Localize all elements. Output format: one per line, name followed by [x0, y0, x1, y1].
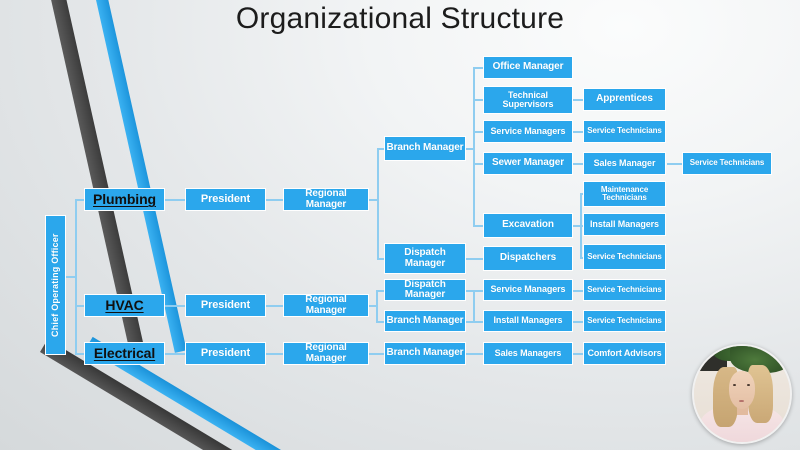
node-sewer-manager[interactable]: Sewer Manager: [483, 152, 573, 175]
node-chief-operating-officer[interactable]: Chief Operating Officer: [45, 215, 66, 355]
node-sales-managers-electrical[interactable]: Sales Managers: [483, 342, 573, 365]
node-hvac[interactable]: HVAC: [84, 294, 165, 317]
connector: [473, 131, 483, 133]
node-install-managers-hvac[interactable]: Install Managers: [483, 310, 573, 332]
node-dispatch-manager-plumbing[interactable]: Dispatch Manager: [384, 243, 466, 274]
node-service-technicians-far[interactable]: Service Technicians: [682, 152, 772, 175]
connector: [667, 163, 682, 165]
slide-title: Organizational Structure: [0, 2, 800, 36]
node-service-managers-plumbing[interactable]: Service Managers: [483, 120, 573, 143]
connector: [376, 290, 384, 292]
node-service-technicians-1[interactable]: Service Technicians: [583, 120, 666, 143]
node-branch-manager-plumbing[interactable]: Branch Manager: [384, 136, 466, 161]
connector: [376, 321, 384, 323]
connector: [473, 225, 483, 227]
connector: [165, 199, 186, 201]
node-install-managers-plumbing[interactable]: Install Managers: [583, 213, 666, 236]
presenter-video-bubble[interactable]: [692, 344, 792, 444]
connector: [473, 290, 475, 321]
connector: [377, 148, 379, 259]
connector: [465, 258, 484, 260]
node-plumbing[interactable]: Plumbing: [84, 188, 165, 211]
node-dispatchers[interactable]: Dispatchers: [483, 246, 573, 271]
node-excavation[interactable]: Excavation: [483, 213, 573, 238]
node-regional-manager-plumbing[interactable]: Regional Manager: [283, 188, 369, 211]
node-regional-manager-hvac[interactable]: Regional Manager: [283, 294, 369, 317]
connector: [265, 305, 284, 307]
node-service-technicians-hvac-1[interactable]: Service Technicians: [583, 279, 666, 301]
node-comfort-advisors[interactable]: Comfort Advisors: [583, 342, 666, 365]
node-service-technicians-hvac-2[interactable]: Service Technicians: [583, 310, 666, 332]
connector: [368, 353, 384, 355]
connector: [65, 276, 76, 278]
node-service-managers-hvac[interactable]: Service Managers: [483, 279, 573, 301]
node-dispatch-manager-hvac[interactable]: Dispatch Manager: [384, 279, 466, 301]
node-president-plumbing[interactable]: President: [185, 188, 266, 211]
node-electrical[interactable]: Electrical: [84, 342, 165, 365]
node-president-hvac[interactable]: President: [185, 294, 266, 317]
connector: [473, 163, 483, 165]
connector: [165, 353, 186, 355]
connector: [473, 99, 483, 101]
node-maintenance-technicians[interactable]: Maintenance Technicians: [583, 181, 666, 207]
connector: [465, 353, 484, 355]
node-office-manager[interactable]: Office Manager: [483, 56, 573, 79]
node-sales-manager[interactable]: Sales Manager: [583, 152, 666, 175]
connector: [473, 67, 483, 69]
connector: [265, 353, 284, 355]
slide-canvas: Organizational Structure: [0, 0, 800, 450]
connector: [265, 199, 284, 201]
connector: [376, 290, 378, 321]
node-apprentices[interactable]: Apprentices: [583, 88, 666, 111]
connector: [473, 67, 475, 226]
node-branch-manager-hvac[interactable]: Branch Manager: [384, 310, 466, 332]
node-service-technicians-2[interactable]: Service Technicians: [583, 244, 666, 270]
node-branch-manager-electrical[interactable]: Branch Manager: [384, 342, 466, 365]
node-president-electrical[interactable]: President: [185, 342, 266, 365]
node-regional-manager-electrical[interactable]: Regional Manager: [283, 342, 369, 365]
node-technical-supervisors[interactable]: Technical Supervisors: [483, 86, 573, 114]
connector: [165, 305, 186, 307]
